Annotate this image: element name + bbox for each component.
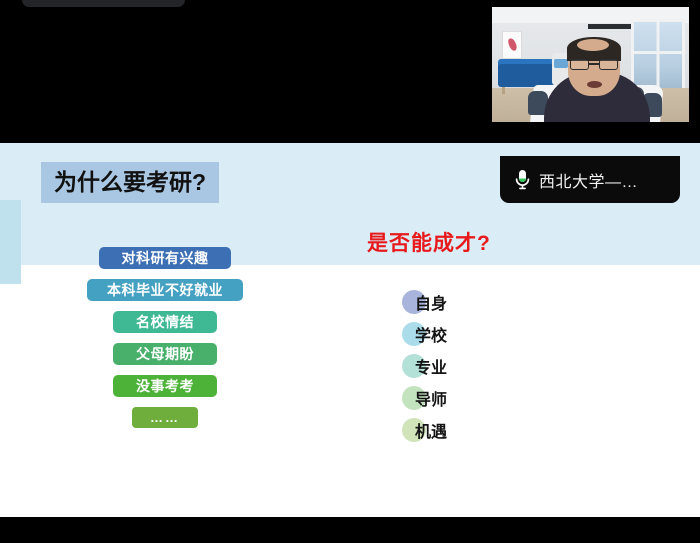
- left-reasons-list: 对科研有兴趣本科毕业不好就业名校情结父母期盼没事考考……: [0, 247, 330, 438]
- meeting-toolbar-pill[interactable]: [22, 0, 185, 7]
- reason-pill: 父母期盼: [113, 343, 217, 365]
- factor-row: 机遇: [402, 419, 447, 441]
- factor-row: 自身: [402, 291, 447, 313]
- reason-pill: 名校情结: [113, 311, 217, 333]
- participant-mouth: [587, 81, 602, 88]
- microphone-icon[interactable]: [515, 169, 530, 191]
- reason-pill: 没事考考: [113, 375, 217, 397]
- participant-hair: [567, 37, 621, 61]
- right-factors-list: 自身学校专业导师机遇: [402, 291, 447, 451]
- reason-pill: ……: [132, 407, 198, 428]
- bottom-letterbox-bar: [0, 517, 700, 543]
- left-section-title: 为什么要考研?: [54, 171, 206, 194]
- factor-row: 学校: [402, 323, 447, 345]
- screen-share-view: 为什么要考研? 对科研有兴趣本科毕业不好就业名校情结父母期盼没事考考…… 是否能…: [0, 0, 700, 543]
- participant-video-tile[interactable]: [492, 7, 689, 122]
- glasses-bridge: [589, 63, 599, 65]
- factor-row: 导师: [402, 387, 447, 409]
- right-section-title: 是否能成才?: [367, 227, 491, 257]
- glasses-right-lens: [599, 59, 618, 70]
- factor-label: 学校: [415, 322, 447, 346]
- factor-row: 专业: [402, 355, 447, 377]
- left-section-title-box: 为什么要考研?: [41, 162, 219, 203]
- video-background-sofa: [498, 64, 554, 87]
- participant-glasses: [570, 59, 618, 70]
- glasses-left-lens: [570, 59, 589, 70]
- factor-label: 专业: [415, 354, 447, 378]
- factor-label: 导师: [415, 386, 447, 410]
- reason-pill: 本科毕业不好就业: [87, 279, 243, 301]
- video-background-picture: [502, 31, 522, 59]
- factor-label: 自身: [415, 290, 447, 314]
- video-background-window: [631, 19, 685, 95]
- reason-pill: 对科研有兴趣: [99, 247, 231, 269]
- participant-name-label: 西北大学—…: [539, 168, 638, 192]
- video-background-sofa-leg: [502, 87, 505, 94]
- participant-name-bar[interactable]: 西北大学—…: [500, 156, 680, 203]
- factor-label: 机遇: [415, 418, 447, 442]
